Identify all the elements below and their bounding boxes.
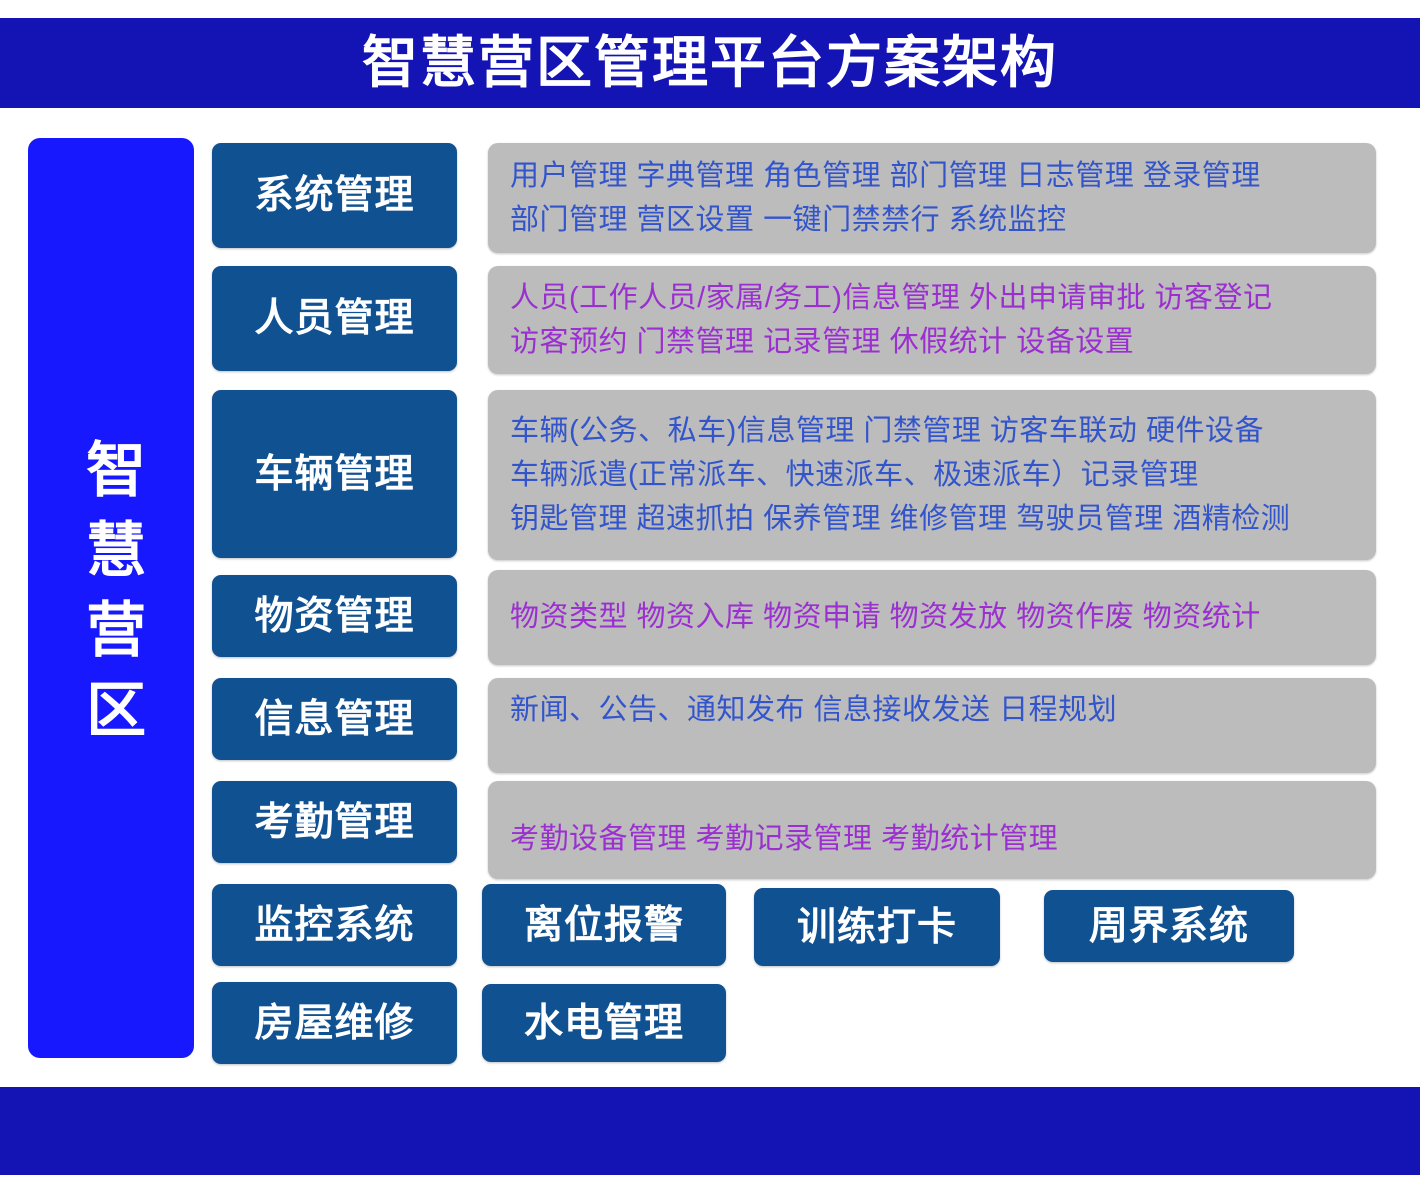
module-chip[interactable]: 离位报警 <box>482 884 726 966</box>
feature-panel-1: 用户管理 字典管理 角色管理 部门管理 日志管理 登录管理部门管理 营区设置 一… <box>488 143 1376 253</box>
category-box-6[interactable]: 考勤管理 <box>212 781 457 863</box>
category-label: 房屋维修 <box>254 1004 414 1043</box>
category-label: 物资管理 <box>254 597 414 636</box>
feature-line[interactable]: 新闻、公告、通知发布 信息接收发送 日程规划 <box>510 688 1354 732</box>
module-chip[interactable]: 水电管理 <box>482 984 726 1062</box>
module-chip-label: 训练打卡 <box>797 908 957 947</box>
feature-line[interactable]: 车辆派遣(正常派车、快速派车、极速派车）记录管理 <box>510 453 1354 497</box>
category-label: 信息管理 <box>254 700 414 739</box>
architecture-rows: 系统管理用户管理 字典管理 角色管理 部门管理 日志管理 登录管理部门管理 营区… <box>0 0 1420 1200</box>
module-chip[interactable]: 训练打卡 <box>754 888 1000 966</box>
feature-line[interactable]: 车辆(公务、私车)信息管理 门禁管理 访客车联动 硬件设备 <box>510 409 1354 453</box>
feature-line[interactable]: 部门管理 营区设置 一键门禁禁行 系统监控 <box>510 198 1354 242</box>
category-label: 考勤管理 <box>254 803 414 842</box>
feature-line[interactable]: 考勤设备管理 考勤记录管理 考勤统计管理 <box>510 817 1354 861</box>
category-box-2[interactable]: 人员管理 <box>212 266 457 371</box>
category-box-5[interactable]: 信息管理 <box>212 678 457 760</box>
feature-panel-2: 人员(工作人员/家属/务工)信息管理 外出申请审批 访客登记访客预约 门禁管理 … <box>488 266 1376 374</box>
category-box-3[interactable]: 车辆管理 <box>212 390 457 558</box>
footer-banner <box>0 1087 1420 1175</box>
feature-line[interactable]: 钥匙管理 超速抓拍 保养管理 维修管理 驾驶员管理 酒精检测 <box>510 497 1354 541</box>
category-box-4[interactable]: 物资管理 <box>212 575 457 657</box>
feature-panel-5: 新闻、公告、通知发布 信息接收发送 日程规划 <box>488 678 1376 773</box>
feature-line[interactable]: 用户管理 字典管理 角色管理 部门管理 日志管理 登录管理 <box>510 154 1354 198</box>
feature-panel-4: 物资类型 物资入库 物资申请 物资发放 物资作废 物资统计 <box>488 570 1376 665</box>
category-label: 人员管理 <box>254 299 414 338</box>
feature-line[interactable]: 物资类型 物资入库 物资申请 物资发放 物资作废 物资统计 <box>510 595 1354 639</box>
feature-panel-6: 考勤设备管理 考勤记录管理 考勤统计管理 <box>488 781 1376 879</box>
feature-line[interactable]: 人员(工作人员/家属/务工)信息管理 外出申请审批 访客登记 <box>510 276 1354 320</box>
module-chip-label: 离位报警 <box>524 906 684 945</box>
feature-line[interactable]: 访客预约 门禁管理 记录管理 休假统计 设备设置 <box>510 320 1354 364</box>
category-box-chiprow-2[interactable]: 房屋维修 <box>212 982 457 1064</box>
module-chip[interactable]: 周界系统 <box>1044 890 1294 962</box>
category-label: 车辆管理 <box>254 455 414 494</box>
category-box-1[interactable]: 系统管理 <box>212 143 457 248</box>
module-chip-label: 周界系统 <box>1089 907 1249 946</box>
category-label: 系统管理 <box>254 176 414 215</box>
category-label: 监控系统 <box>254 906 414 945</box>
feature-panel-3: 车辆(公务、私车)信息管理 门禁管理 访客车联动 硬件设备车辆派遣(正常派车、快… <box>488 390 1376 560</box>
category-box-chiprow-1[interactable]: 监控系统 <box>212 884 457 966</box>
module-chip-label: 水电管理 <box>524 1004 684 1043</box>
